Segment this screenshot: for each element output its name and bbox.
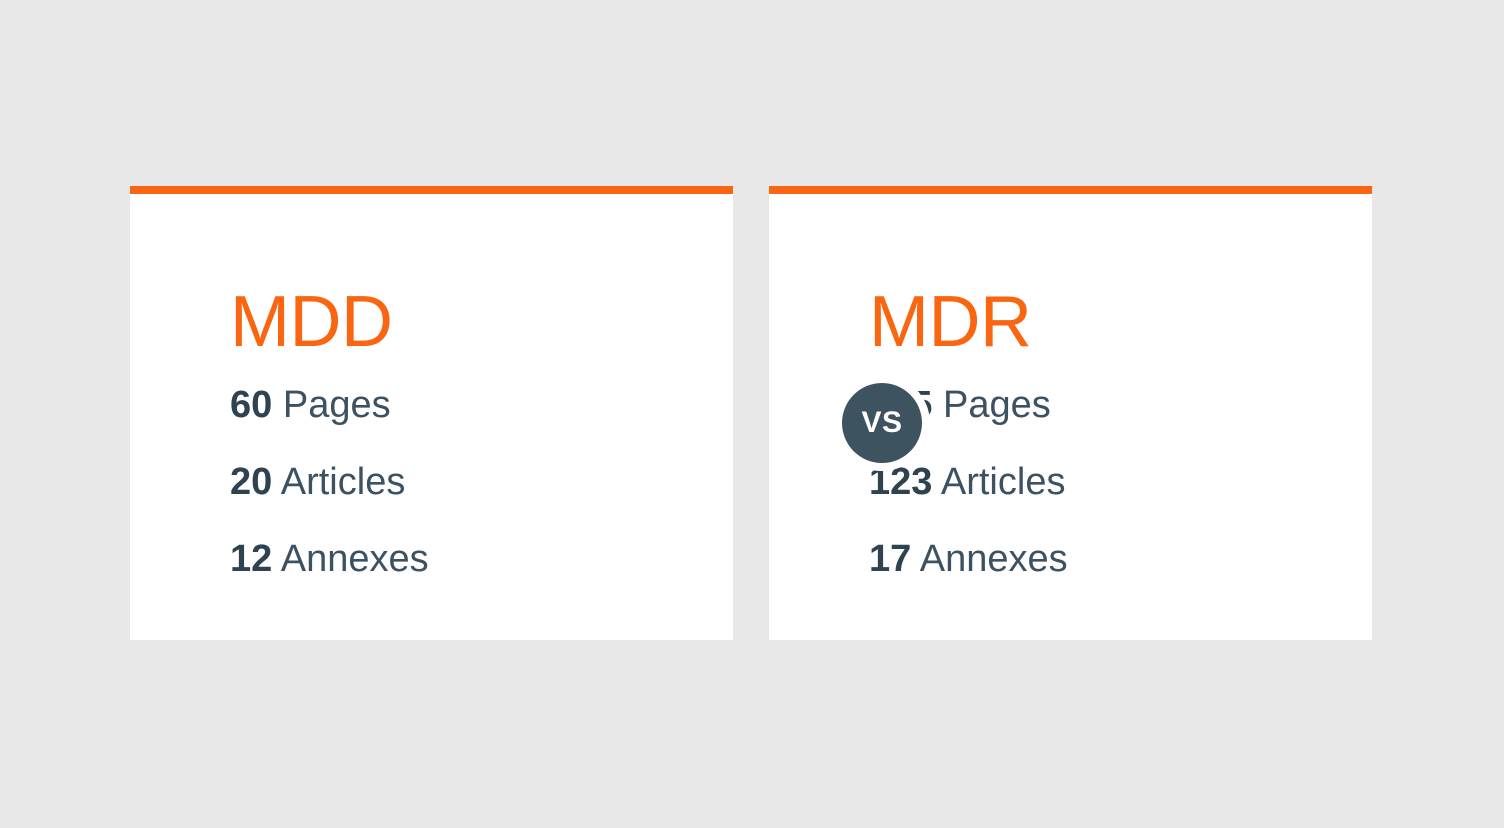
stat-value: 60 [230, 384, 272, 426]
stat-label: Articles [941, 461, 1066, 503]
stat-row-pages-right: 175 Pages [869, 386, 1372, 463]
comparison-container: MDD 60 Pages 20 Articles 12 Annexes MDR [130, 186, 1372, 640]
stat-row-articles-left: 20 Articles [230, 463, 733, 540]
card-title-left: MDD [230, 286, 733, 346]
stat-row-articles-right: 123 Articles [869, 463, 1372, 540]
stat-label: Annexes [920, 538, 1068, 580]
versus-label: VS [861, 408, 902, 438]
stat-label: Pages [283, 384, 391, 426]
versus-badge-halo: VS [834, 375, 930, 471]
stat-row-annexes-left: 12 Annexes [230, 540, 733, 617]
card-accent-bar-left [130, 186, 733, 194]
card-accent-bar-right [769, 186, 1372, 194]
comparison-infographic: MDD 60 Pages 20 Articles 12 Annexes MDR [0, 0, 1504, 828]
stat-list-right: 175 Pages 123 Articles 17 Annexes [869, 386, 1372, 617]
stat-value: 12 [230, 538, 272, 580]
versus-badge-circle: VS [842, 383, 922, 463]
stat-list-left: 60 Pages 20 Articles 12 Annexes [230, 386, 733, 617]
stat-value: 20 [230, 461, 272, 503]
stat-row-annexes-right: 17 Annexes [869, 540, 1372, 617]
stat-label: Articles [281, 461, 406, 503]
stat-label: Pages [943, 384, 1051, 426]
stat-label: Annexes [281, 538, 429, 580]
comparison-card-left: MDD 60 Pages 20 Articles 12 Annexes [130, 186, 733, 640]
stat-value: 17 [869, 538, 911, 580]
stat-row-pages-left: 60 Pages [230, 386, 733, 463]
card-title-right: MDR [869, 286, 1372, 346]
